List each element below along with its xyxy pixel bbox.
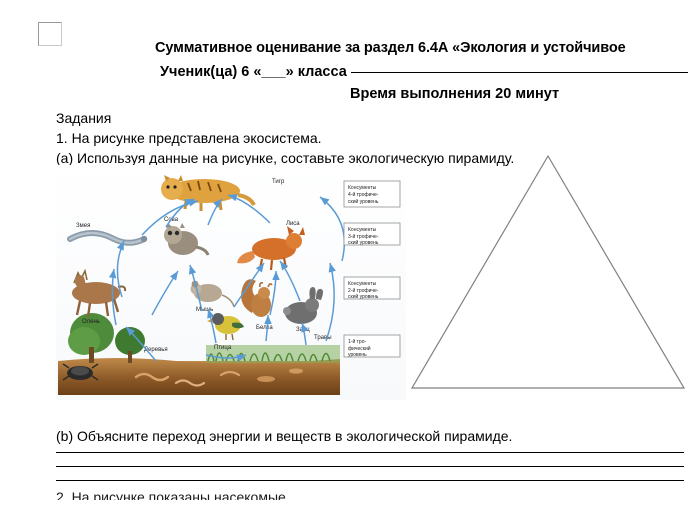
page-corner-mark xyxy=(38,22,62,46)
svg-text:фический: фический xyxy=(348,345,371,352)
answer-line-2[interactable] xyxy=(56,466,684,467)
time-limit-label: Время выполнения 20 минут xyxy=(350,86,559,102)
ecosystem-figure: Травы Деревья Олень xyxy=(56,165,406,400)
label-tiger: Тигр xyxy=(272,179,285,185)
worksheet-page: Суммативное оценивание за раздел 6.4А «Э… xyxy=(0,0,688,505)
answer-pyramid[interactable] xyxy=(408,152,688,392)
svg-text:Консументы: Консументы xyxy=(348,227,377,233)
question-1b: (b) Объясните переход энергии и веществ … xyxy=(56,428,512,444)
tasks-header: Задания xyxy=(56,110,111,126)
label-grass: Травы xyxy=(314,335,332,341)
student-label: Ученик(ца) 6 «___» класса xyxy=(160,64,347,80)
svg-text:3-й трофиче-: 3-й трофиче- xyxy=(348,233,379,240)
svg-text:уровень: уровень xyxy=(348,352,367,358)
label-fox: Лиса xyxy=(286,221,300,227)
question-1: 1. На рисунке представлена экосистема. xyxy=(56,130,322,146)
label-mouse: Мышь xyxy=(196,307,213,313)
svg-text:ский уровень: ский уровень xyxy=(348,239,379,246)
student-name-line: Ученик(ца) 6 «___» класса xyxy=(160,64,688,80)
student-name-blank[interactable] xyxy=(351,72,688,73)
svg-text:Консументы: Консументы xyxy=(348,185,377,191)
svg-text:ский уровень: ский уровень xyxy=(348,293,379,300)
svg-text:Консументы: Консументы xyxy=(348,281,377,287)
label-snake: Змея xyxy=(76,223,90,229)
svg-text:1-й тро-: 1-й тро- xyxy=(348,338,366,345)
page-bottom-clip xyxy=(0,500,688,505)
svg-text:ский уровень: ский уровень xyxy=(348,198,379,205)
page-title: Суммативное оценивание за раздел 6.4А «Э… xyxy=(155,40,688,56)
svg-text:2-й трофиче-: 2-й трофиче- xyxy=(348,287,379,294)
label-deer: Олень xyxy=(82,319,100,325)
label-squirrel: Белка xyxy=(256,325,273,331)
label-bird: Птица xyxy=(214,345,232,351)
answer-line-1[interactable] xyxy=(56,452,684,453)
answer-line-3[interactable] xyxy=(56,480,684,481)
svg-text:4-й трофиче-: 4-й трофиче- xyxy=(348,191,379,198)
